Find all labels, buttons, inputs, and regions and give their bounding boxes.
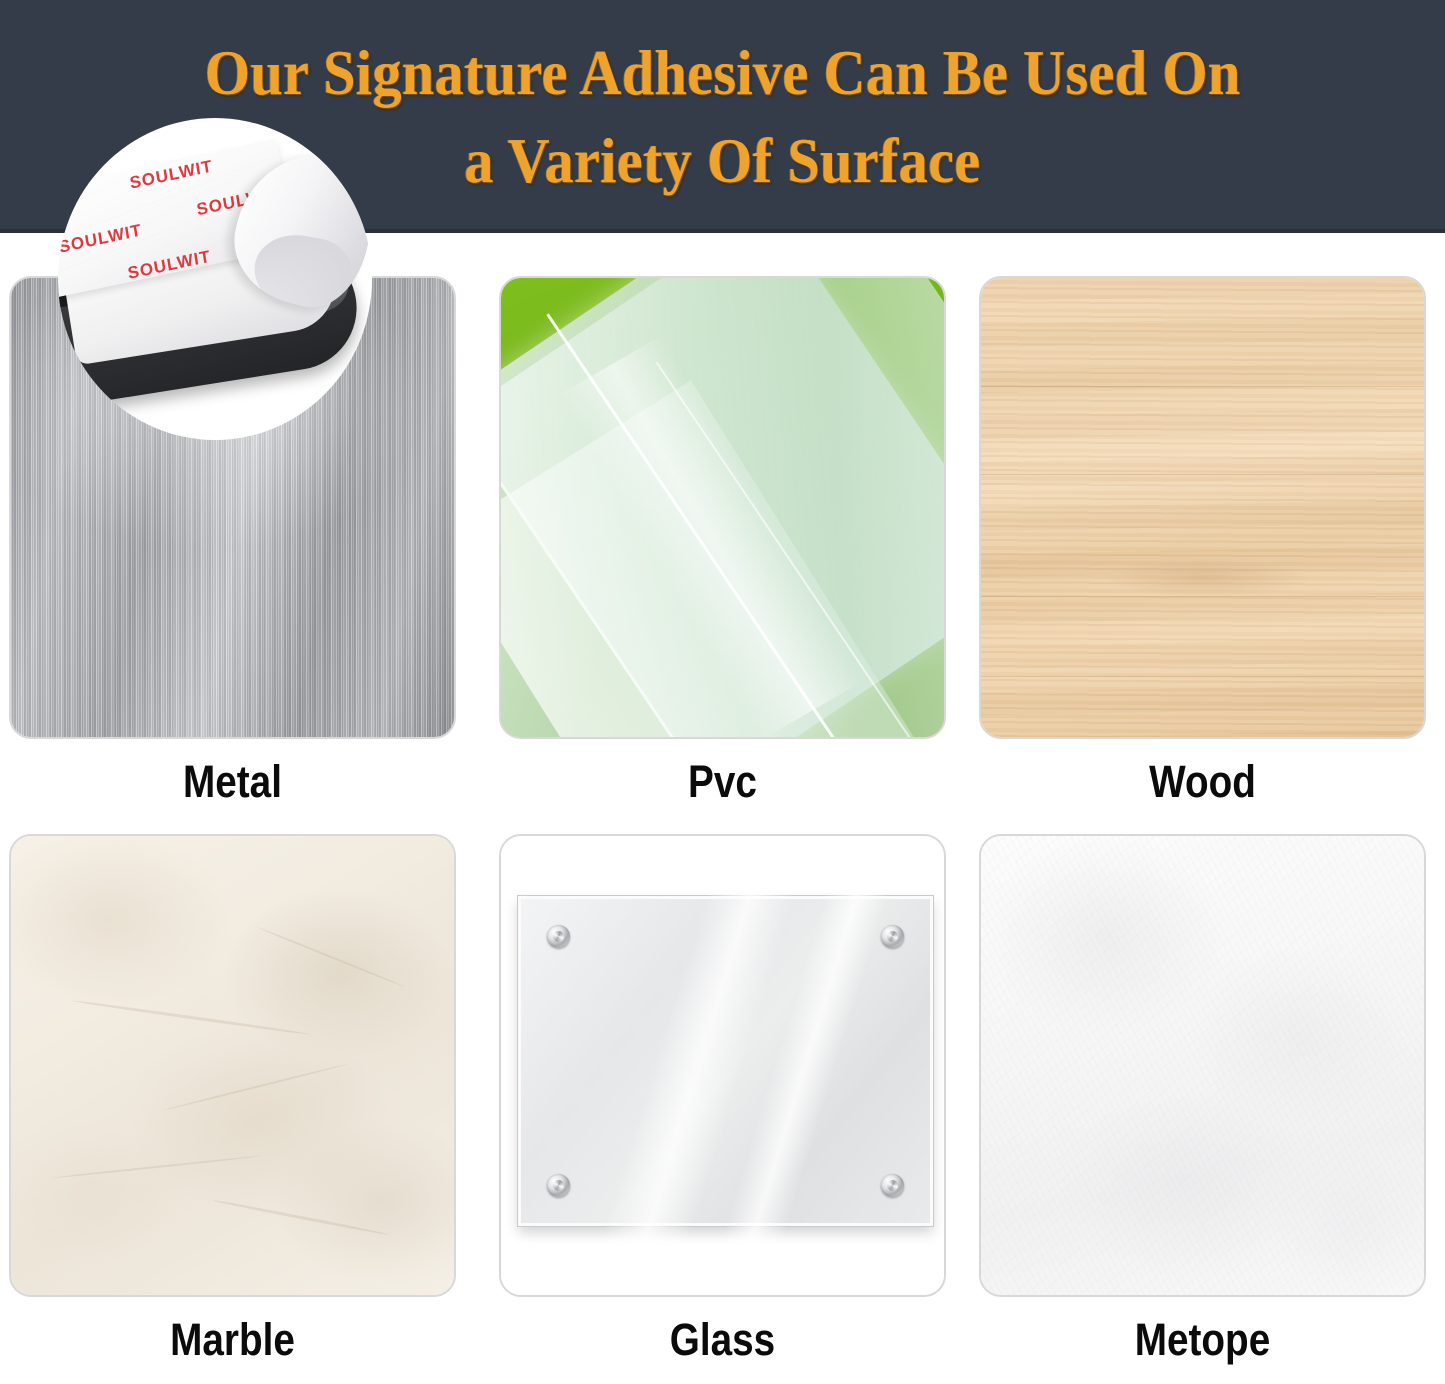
liner-brand-text: SOULWIT — [58, 220, 143, 257]
surface-cell-wood: Wood — [970, 276, 1435, 851]
headline-line-2: a Variety Of Surface — [464, 117, 980, 205]
headline-line-1: Our Signature Adhesive Can Be Used On — [205, 29, 1241, 117]
mounted-glass-panel-swatch — [499, 834, 946, 1297]
glass-panel — [518, 896, 933, 1226]
surface-label-metope: Metope — [1003, 1314, 1403, 1366]
liner-brand-text: SOULWIT — [128, 156, 214, 193]
surface-label-wood: Wood — [1003, 756, 1403, 808]
metope-grain-overlay — [981, 836, 1424, 1295]
adhesive-mount-inset: SOULWIT SOULWIT SOULWIT SOULWIT SOULWIT — [58, 118, 372, 440]
white-plaster-wall-swatch — [979, 834, 1426, 1297]
wood-knot — [1101, 558, 1311, 598]
wood-plank-seam — [981, 386, 1424, 387]
light-wood-grain-swatch — [979, 276, 1426, 739]
standoff-screw-icon — [881, 1174, 904, 1197]
standoff-screw-icon — [547, 925, 570, 948]
surface-cell-metope: Metope — [970, 834, 1435, 1384]
wood-plank-seam — [981, 474, 1424, 475]
promo-infographic: Our Signature Adhesive Can Be Used On a … — [0, 0, 1445, 1384]
wood-plank-seam — [981, 676, 1424, 677]
surface-label-marble: Marble — [33, 1314, 433, 1366]
standoff-screw-icon — [547, 1174, 570, 1197]
surface-cell-marble: Marble — [0, 834, 465, 1384]
surface-label-glass: Glass — [523, 1314, 923, 1366]
liner-brand-text: SOULWIT — [58, 192, 76, 229]
standoff-screw-icon — [881, 925, 904, 948]
wood-texture — [981, 278, 1424, 737]
clear-pvc-sheet-swatch — [499, 276, 946, 739]
marble-texture — [11, 836, 454, 1295]
surface-cell-glass: Glass — [490, 834, 955, 1384]
surface-cell-pvc: Pvc — [490, 276, 955, 851]
surface-label-pvc: Pvc — [523, 756, 923, 808]
cream-marble-swatch — [9, 834, 456, 1297]
surface-label-metal: Metal — [33, 756, 433, 808]
